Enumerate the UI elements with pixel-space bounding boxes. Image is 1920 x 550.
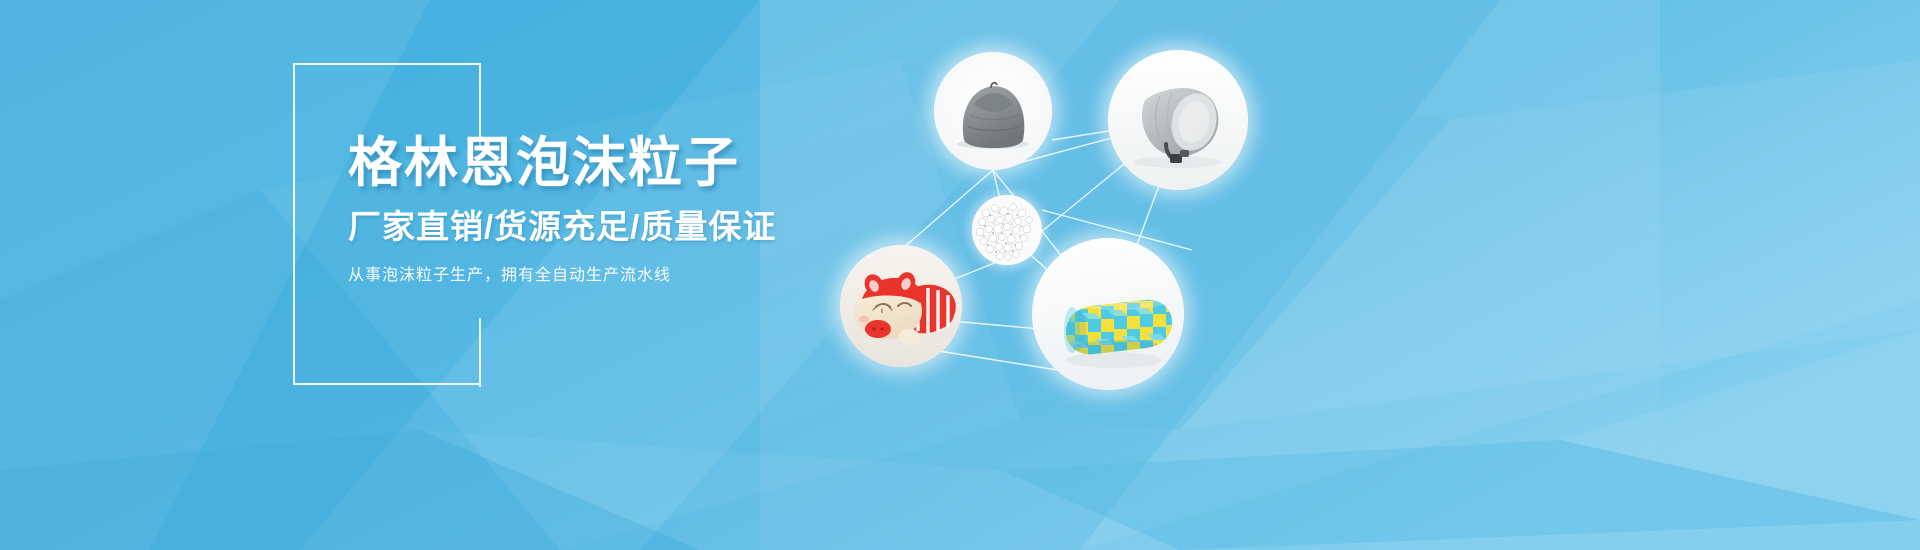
grey-bean-bag-chair-icon	[934, 52, 1052, 170]
yellow-blue-checkered-bolster-pillow-icon	[1032, 238, 1184, 390]
headline-block: 格林恩泡沫粒子 厂家直销/货源充足/质量保证 从事泡沫粒子生产，拥有全自动生产流…	[348, 132, 808, 288]
grey-u-shaped-neck-pillow-icon	[1108, 50, 1248, 190]
headline-tagline: 厂家直销/货源充足/质量保证	[348, 206, 808, 248]
page-title: 格林恩泡沫粒子	[348, 132, 808, 194]
product-cluster	[820, 0, 1920, 550]
product-circle-bolster-pillow[interactable]	[1032, 238, 1184, 390]
red-plush-pig-toy-icon	[840, 245, 962, 367]
product-circle-plush-toy[interactable]	[840, 245, 962, 367]
promo-banner: 格林恩泡沫粒子 厂家直销/货源充足/质量保证 从事泡沫粒子生产，拥有全自动生产流…	[0, 0, 1920, 550]
headline-subtitle: 从事泡沫粒子生产，拥有全自动生产流水线	[348, 264, 808, 288]
decorative-frame-right-bottom	[479, 318, 481, 387]
product-circle-neck-pillow[interactable]	[1108, 50, 1248, 190]
product-circle-beanbag[interactable]	[934, 52, 1052, 170]
